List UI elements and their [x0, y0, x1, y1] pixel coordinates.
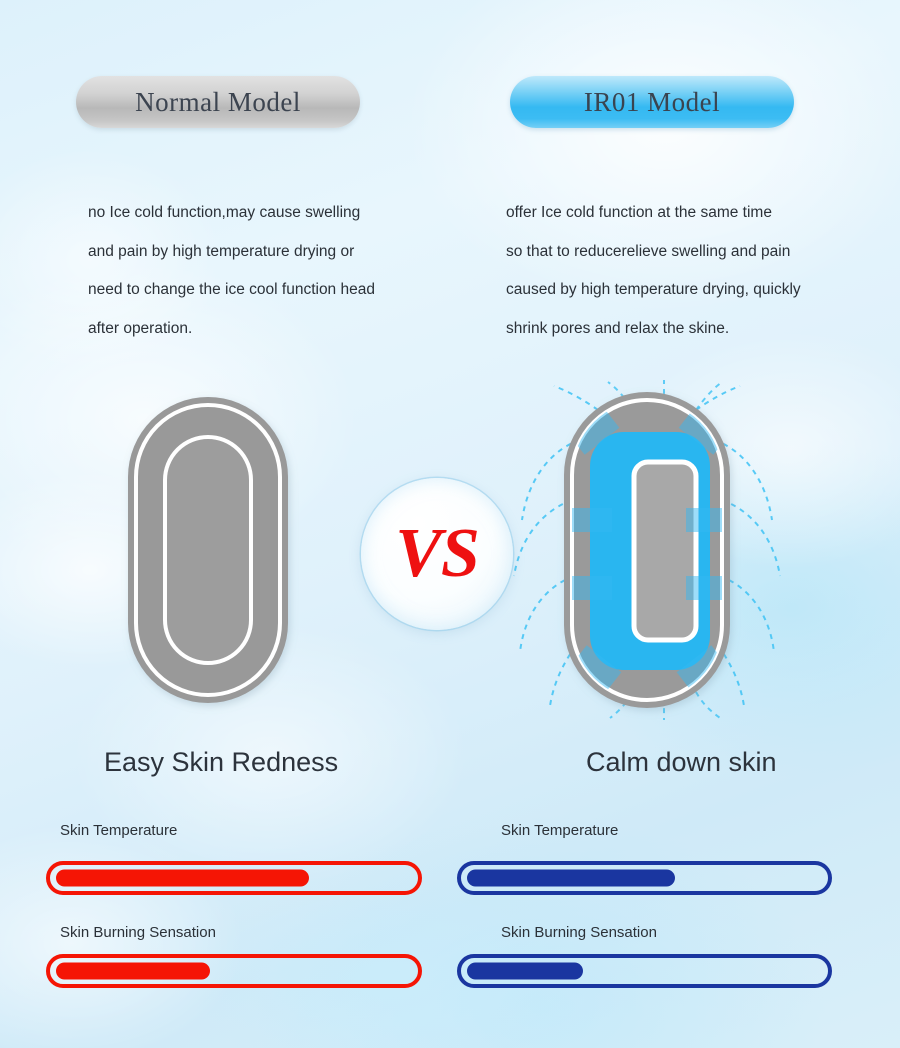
description-normal-model: no Ice cold function,may cause swelling … [88, 194, 458, 348]
device-inner-panel [634, 462, 696, 640]
device-inner-panel [165, 437, 251, 663]
normal-device-svg [92, 385, 392, 715]
meter-fill-left-skin-temperature [56, 870, 309, 887]
infographic-stage: Normal Model IR01 Model no Ice cold func… [0, 0, 900, 1048]
meter-fill-left-skin-burning [56, 963, 210, 980]
description-ir01-model: offer Ice cold function at the same time… [506, 194, 878, 348]
meter-label-left-skin-temperature: Skin Temperature [60, 822, 177, 839]
ice-cool-device-illustration [510, 380, 810, 710]
meter-label-right-skin-temperature: Skin Temperature [501, 822, 618, 839]
meter-track-left-skin-temperature [46, 861, 422, 895]
badge-normal-model-label: Normal Model [135, 87, 301, 118]
meter-label-right-skin-burning: Skin Burning Sensation [501, 924, 657, 941]
normal-device-illustration [92, 385, 392, 715]
versus-badge: VS [361, 478, 513, 630]
badge-normal-model[interactable]: Normal Model [76, 76, 360, 128]
meter-track-left-skin-burning [46, 954, 422, 988]
badge-ir01-model[interactable]: IR01 Model [510, 76, 794, 128]
caption-normal-model: Easy Skin Redness [104, 747, 338, 778]
meter-track-right-skin-burning [457, 954, 832, 988]
badge-ir01-model-label: IR01 Model [584, 87, 720, 118]
meter-fill-right-skin-temperature [467, 870, 675, 887]
meter-label-left-skin-burning: Skin Burning Sensation [60, 924, 216, 941]
meter-fill-right-skin-burning [467, 963, 583, 980]
caption-ir01-model: Calm down skin [586, 747, 777, 778]
versus-label: VS [395, 519, 479, 589]
ice-cool-device-svg [510, 380, 810, 720]
meter-track-right-skin-temperature [457, 861, 832, 895]
